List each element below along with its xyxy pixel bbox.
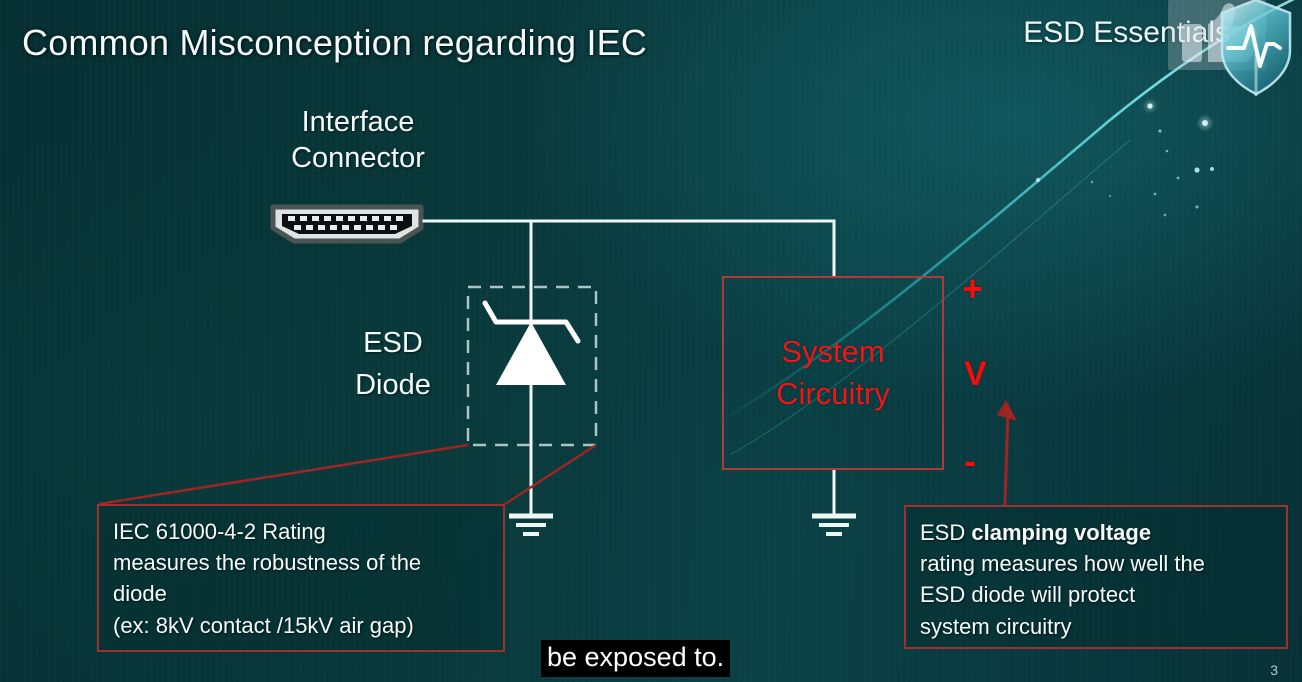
iec-callout-line3: diode: [113, 578, 489, 609]
interface-connector-label: Interface Connector: [258, 104, 458, 177]
clamping-callout-prefix: ESD: [920, 520, 971, 545]
clamping-callout-line2: rating measures how well the: [920, 548, 1272, 579]
voltage-symbol-marker: V: [964, 355, 987, 394]
system-circuitry-line1: System: [776, 331, 890, 373]
subtitle-caption: be exposed to.: [541, 640, 730, 677]
clamping-callout-line1: ESD clamping voltage: [920, 517, 1272, 548]
iec-rating-callout: IEC 61000-4-2 Rating measures the robust…: [97, 504, 505, 652]
system-circuitry-label: System Circuitry: [776, 331, 890, 415]
system-ground-symbol-icon: [812, 516, 856, 534]
shield-heartbeat-icon: [1214, 0, 1298, 100]
clamping-callout-line3: ESD diode will protect: [920, 579, 1272, 610]
right-callout-arrow: [997, 400, 1017, 505]
iec-callout-line2: measures the robustness of the: [113, 547, 489, 578]
slide-canvas: Common Misconception regarding IEC ESD E…: [0, 0, 1302, 682]
voltage-minus-marker: -: [964, 440, 976, 482]
interface-label-line2: Connector: [258, 140, 458, 176]
esd-diode-label: ESD Diode: [328, 322, 458, 406]
clamping-callout-bold: clamping voltage: [971, 520, 1151, 545]
system-circuitry-box: System Circuitry: [722, 276, 944, 470]
iec-callout-line4: (ex: 8kV contact /15kV air gap): [113, 610, 489, 641]
page-number: 3: [1270, 662, 1278, 678]
voltage-plus-marker: +: [962, 268, 983, 310]
esd-diode-dashed-outline: [468, 287, 596, 445]
esd-diode-label-line2: Diode: [328, 364, 458, 406]
hdmi-connector-icon: [268, 202, 426, 246]
esd-diode-label-line1: ESD: [328, 322, 458, 364]
clamping-callout-line4: system circuitry: [920, 611, 1272, 642]
ground-symbol-icon: [509, 516, 553, 534]
iec-callout-line1: IEC 61000-4-2 Rating: [113, 516, 489, 547]
left-callout-leader-lines: [99, 445, 596, 504]
interface-label-line1: Interface: [258, 104, 458, 140]
clamping-voltage-callout: ESD clamping voltage rating measures how…: [904, 505, 1288, 649]
system-circuitry-line2: Circuitry: [776, 373, 890, 415]
slide-title: Common Misconception regarding IEC: [22, 22, 647, 64]
tvs-zener-diode-icon: [485, 303, 578, 385]
